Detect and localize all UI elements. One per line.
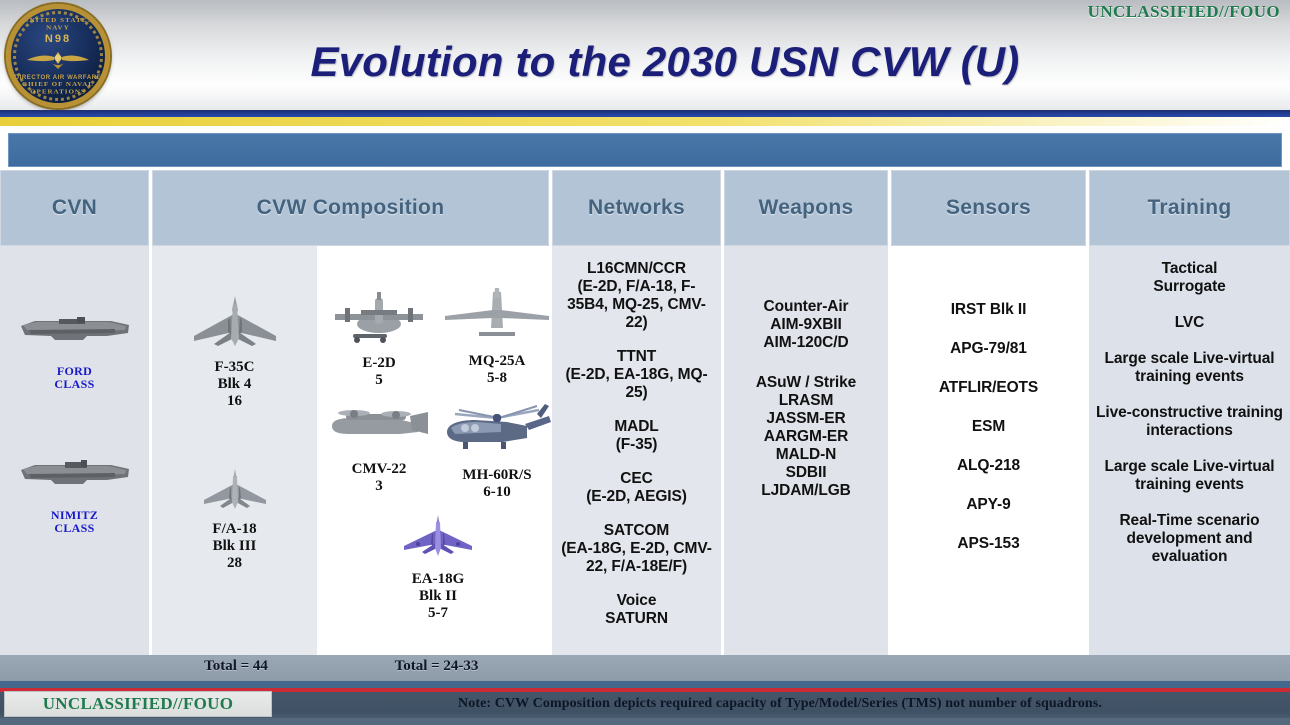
training-item: Live-constructive training interactions bbox=[1095, 404, 1284, 440]
weapons-item: ASuW / StrikeLRASMJASSM-ERAARGM-ERMALD-N… bbox=[730, 374, 882, 500]
cvw-item-e2d: E-2D 5 bbox=[320, 288, 438, 389]
column-header-weapons-label: Weapons bbox=[758, 196, 853, 220]
slide-header: UNCLASSIFIED//FOUO UNITED STATES NAVY N9… bbox=[0, 0, 1290, 110]
cmv22-osprey-icon bbox=[324, 404, 434, 452]
sensors-item: IRST Blk II bbox=[897, 300, 1080, 319]
cvw-item-ea18g: EA-18G Blk II 5-7 bbox=[379, 514, 497, 622]
cvw-f35c-label: F-35C Blk 4 16 bbox=[152, 359, 317, 410]
sensors-item: ESM bbox=[897, 417, 1080, 436]
cvw-fa18-label: F/A-18 Blk III 28 bbox=[152, 521, 317, 572]
cvw-e2d-label: E-2D 5 bbox=[320, 355, 438, 389]
training-item: Large scale Live-virtual training events bbox=[1095, 350, 1284, 386]
cvw-f35c-line1: F-35C bbox=[215, 359, 255, 375]
sensors-item: APY-9 bbox=[897, 495, 1080, 514]
cvw-cmv22-line1: CMV-22 bbox=[352, 461, 407, 477]
networks-item: CEC(E-2D, AEGIS) bbox=[558, 470, 715, 506]
column-body-networks: L16CMN/CCR(E-2D, F/A-18, F-35B4, MQ-25, … bbox=[552, 246, 721, 655]
cvw-fa18-line3: 28 bbox=[227, 555, 242, 571]
fa18-jet-icon bbox=[200, 468, 270, 512]
column-body-cvw-composition: F-35C Blk 4 16 bbox=[152, 246, 549, 655]
cvn-item-nimitz: NIMITZ CLASS bbox=[0, 454, 149, 535]
cvn-nimitz-label: NIMITZ CLASS bbox=[0, 509, 149, 535]
cvw-mh60-line1: MH-60R/S bbox=[462, 467, 531, 483]
total-fighters: Total = 44 bbox=[152, 658, 320, 675]
table-column-cvn: CVN FORD CLASS bbox=[0, 170, 152, 655]
networks-list: L16CMN/CCR(E-2D, F/A-18, F-35B4, MQ-25, … bbox=[552, 252, 721, 628]
cvn-nimitz-line1: NIMITZ bbox=[51, 508, 98, 522]
weapons-item: Counter-AirAIM-9XBIIAIM-120C/D bbox=[730, 298, 882, 352]
cvw-item-f35c: F-35C Blk 4 16 bbox=[152, 294, 317, 410]
cvn-item-ford: FORD CLASS bbox=[0, 310, 149, 391]
cvn-ford-label: FORD CLASS bbox=[0, 365, 149, 391]
cvw-mh60-line2: 6-10 bbox=[483, 484, 511, 500]
cvw-ea18g-line3: 5-7 bbox=[428, 605, 448, 621]
table-column-networks: Networks L16CMN/CCR(E-2D, F/A-18, F-35B4… bbox=[552, 170, 724, 655]
total-support: Total = 24-33 bbox=[320, 658, 553, 675]
cvw-f35c-line3: 16 bbox=[227, 393, 242, 409]
cvw-ea18g-line2: Blk II bbox=[419, 588, 457, 604]
cvw-evolution-table: CVN FORD CLASS bbox=[0, 170, 1290, 655]
header-classification-marking: UNCLASSIFIED//FOUO bbox=[1088, 2, 1280, 22]
cvw-e2d-line1: E-2D bbox=[362, 355, 395, 371]
aircraft-carrier-icon bbox=[15, 310, 135, 352]
cvn-ford-line2: CLASS bbox=[54, 377, 94, 391]
footer-classification-banner: UNCLASSIFIED//FOUO bbox=[4, 691, 272, 717]
sensors-item: APS-153 bbox=[897, 534, 1080, 553]
gold-divider-bar bbox=[0, 117, 1290, 126]
column-body-sensors: IRST Blk II APG-79/81 ATFLIR/EOTS ESM AL… bbox=[891, 246, 1086, 655]
cvw-fa18-line1: F/A-18 bbox=[212, 521, 256, 537]
sensors-list: IRST Blk II APG-79/81 ATFLIR/EOTS ESM AL… bbox=[891, 252, 1086, 553]
networks-item: TTNT(E-2D, EA-18G, MQ-25) bbox=[558, 348, 715, 402]
cvw-mq25a-label: MQ-25A 5-8 bbox=[438, 353, 556, 387]
training-item: LVC bbox=[1095, 314, 1284, 332]
networks-item: MADL(F-35) bbox=[558, 418, 715, 454]
cvw-mq25a-line1: MQ-25A bbox=[469, 353, 526, 369]
navy-divider-bar bbox=[0, 110, 1290, 117]
mh60-helicopter-icon bbox=[441, 398, 553, 458]
weapons-list: Counter-AirAIM-9XBIIAIM-120C/D ASuW / St… bbox=[724, 252, 888, 500]
footer-bottom-strip bbox=[0, 718, 1290, 725]
column-body-weapons: Counter-AirAIM-9XBIIAIM-120C/D ASuW / St… bbox=[724, 246, 888, 655]
column-header-networks: Networks bbox=[552, 170, 721, 246]
sensors-item: ATFLIR/EOTS bbox=[897, 378, 1080, 397]
cvn-ford-line1: FORD bbox=[57, 364, 92, 378]
page-title: Evolution to the 2030 USN CVW (U) bbox=[0, 38, 1290, 86]
sensors-item: ALQ-218 bbox=[897, 456, 1080, 475]
column-body-cvn: FORD CLASS NIMITZ CLASS bbox=[0, 246, 149, 655]
column-header-networks-label: Networks bbox=[588, 196, 685, 220]
mq25a-drone-icon bbox=[443, 288, 551, 344]
column-header-sensors: Sensors bbox=[891, 170, 1086, 246]
networks-item: VoiceSATURN bbox=[558, 592, 715, 628]
column-header-sensors-label: Sensors bbox=[946, 196, 1031, 220]
column-header-training-label: Training bbox=[1147, 196, 1231, 220]
column-header-weapons: Weapons bbox=[724, 170, 888, 246]
cvw-fa18-line2: Blk III bbox=[213, 538, 257, 554]
table-column-training: Training TacticalSurrogate LVC Large sca… bbox=[1089, 170, 1290, 655]
totals-row: Total = 44 Total = 24-33 bbox=[0, 655, 1290, 681]
cvw-mh60-label: MH-60R/S 6-10 bbox=[438, 467, 556, 501]
cvw-item-mq25a: MQ-25A 5-8 bbox=[438, 288, 556, 387]
cvw-f35c-line2: Blk 4 bbox=[218, 376, 252, 392]
sensors-item: APG-79/81 bbox=[897, 339, 1080, 358]
table-column-sensors: Sensors IRST Blk II APG-79/81 ATFLIR/EOT… bbox=[891, 170, 1089, 655]
training-item: Large scale Live-virtual training events bbox=[1095, 458, 1284, 494]
cvw-ea18g-label: EA-18G Blk II 5-7 bbox=[379, 571, 497, 622]
training-item: Real-Time scenario development and evalu… bbox=[1095, 512, 1284, 566]
cvw-cmv22-label: CMV-22 3 bbox=[320, 461, 438, 495]
cvw-subcolumn-support: E-2D 5 MQ-25A bbox=[317, 246, 549, 655]
cvw-cmv22-line2: 3 bbox=[375, 478, 383, 494]
aircraft-carrier-icon bbox=[15, 454, 135, 496]
column-header-cvn-label: CVN bbox=[52, 196, 97, 220]
table-column-weapons: Weapons Counter-AirAIM-9XBIIAIM-120C/D A… bbox=[724, 170, 891, 655]
e2d-hawkeye-icon bbox=[331, 288, 427, 346]
cvw-e2d-line2: 5 bbox=[375, 372, 383, 388]
blue-banner-bar bbox=[8, 133, 1282, 167]
column-header-cvn: CVN bbox=[0, 170, 149, 246]
training-item: TacticalSurrogate bbox=[1095, 260, 1284, 296]
table-column-cvw-composition: CVW Composition bbox=[152, 170, 552, 655]
cvw-ea18g-line1: EA-18G bbox=[412, 571, 465, 587]
column-body-training: TacticalSurrogate LVC Large scale Live-v… bbox=[1089, 246, 1290, 655]
footer-classification-label: UNCLASSIFIED//FOUO bbox=[43, 694, 234, 714]
cvw-subcolumn-fighters: F-35C Blk 4 16 bbox=[152, 246, 317, 655]
column-header-cvw-composition: CVW Composition bbox=[152, 170, 549, 246]
column-header-cvw-label: CVW Composition bbox=[257, 196, 445, 220]
cvw-mq25a-line2: 5-8 bbox=[487, 370, 507, 386]
footer-note: Note: CVW Composition depicts required c… bbox=[280, 696, 1280, 712]
networks-item: L16CMN/CCR(E-2D, F/A-18, F-35B4, MQ-25, … bbox=[558, 260, 715, 332]
cvw-item-fa18: F/A-18 Blk III 28 bbox=[152, 468, 317, 572]
networks-item: SATCOM(EA-18G, E-2D, CMV-22, F/A-18E/F) bbox=[558, 522, 715, 576]
slide-root: UNCLASSIFIED//FOUO UNITED STATES NAVY N9… bbox=[0, 0, 1290, 725]
f35c-jet-icon bbox=[190, 294, 280, 350]
ea18g-growler-icon bbox=[398, 514, 478, 562]
column-header-training: Training bbox=[1089, 170, 1290, 246]
cvn-nimitz-line2: CLASS bbox=[54, 521, 94, 535]
training-list: TacticalSurrogate LVC Large scale Live-v… bbox=[1089, 252, 1290, 566]
cvw-item-cmv22: CMV-22 3 bbox=[320, 404, 438, 495]
cvw-item-mh60: MH-60R/S 6-10 bbox=[438, 398, 556, 501]
seal-arc-top-text: UNITED STATES NAVY bbox=[11, 17, 105, 31]
